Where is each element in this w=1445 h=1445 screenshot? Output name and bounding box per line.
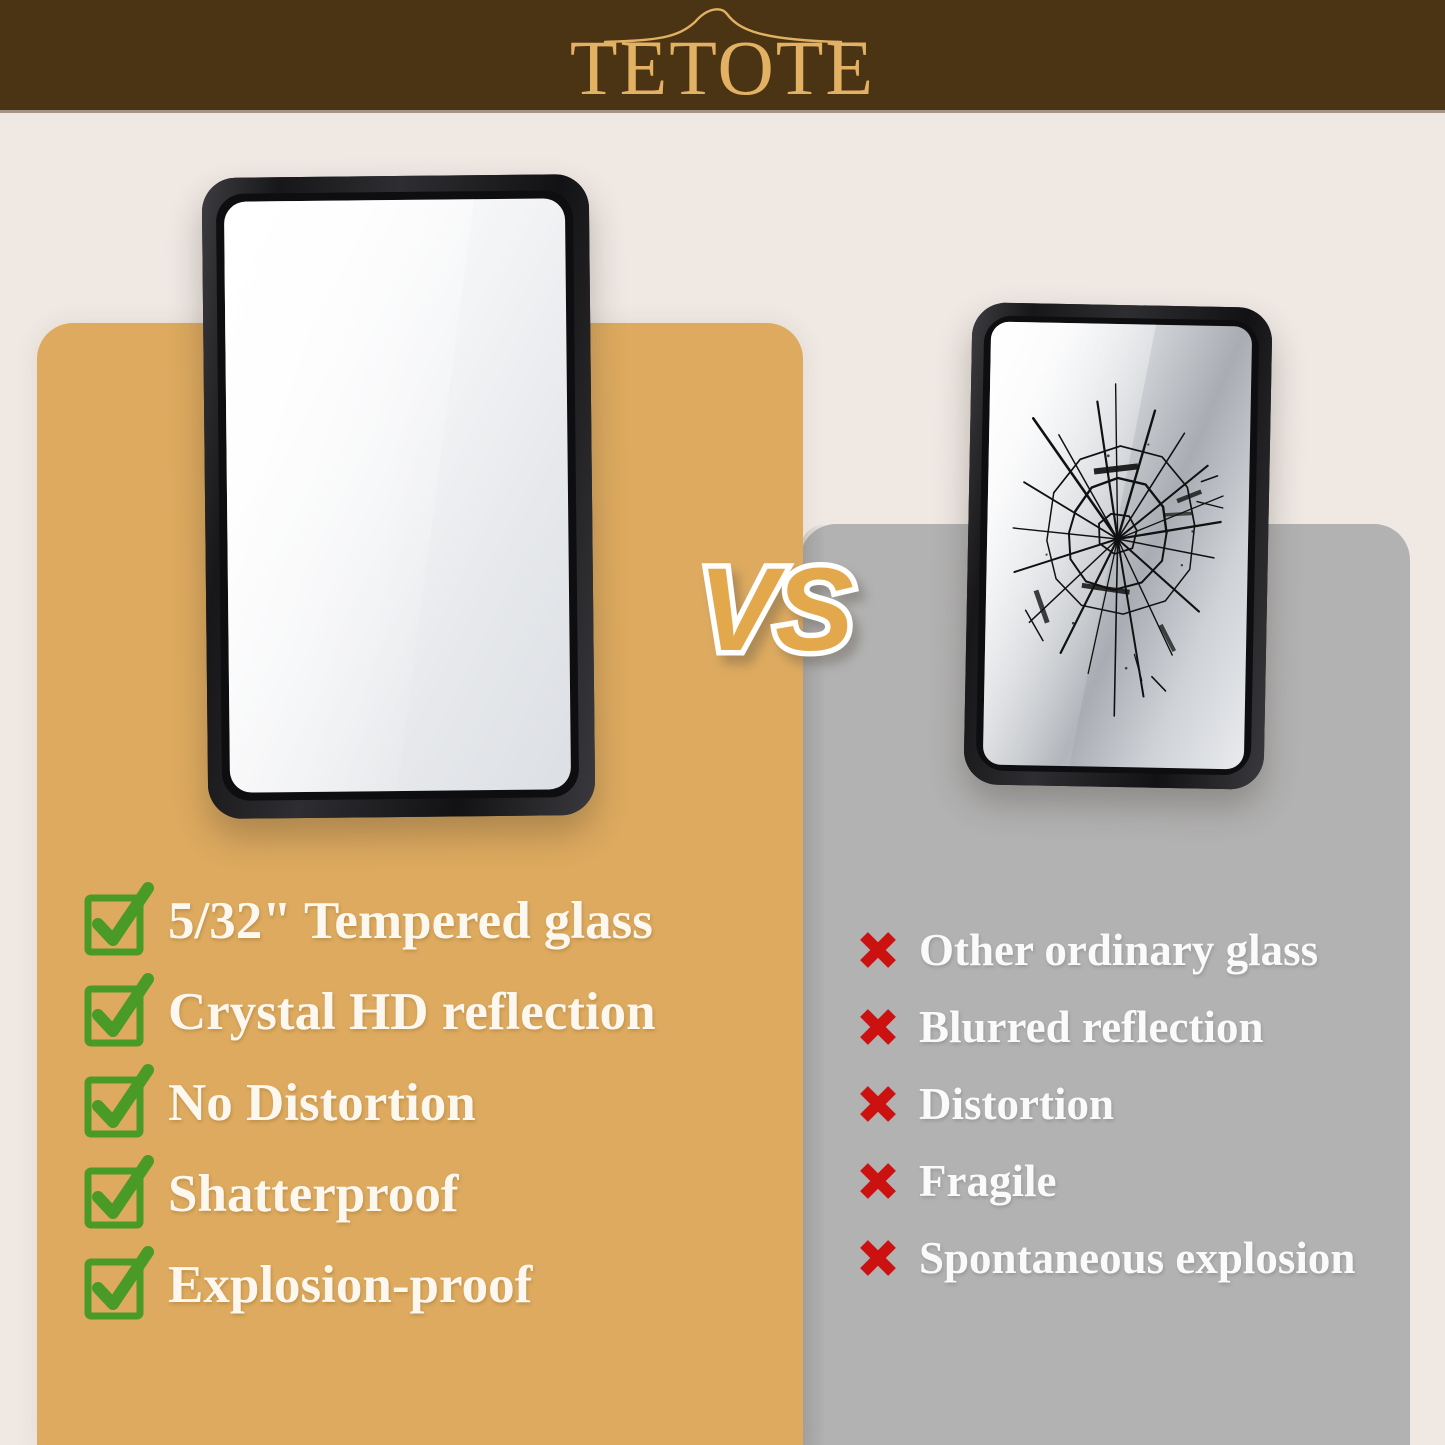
green-checkbox-icon	[86, 1074, 146, 1134]
shattered-glass-crack-icon	[983, 322, 1252, 770]
brand-header-bar: TETOTE	[0, 0, 1445, 110]
green-checkbox-icon	[86, 983, 146, 1043]
intact-mirror-product-image	[202, 174, 596, 819]
list-item: Spontaneous explosion	[855, 1220, 1415, 1297]
list-item: 5/32" Tempered glass	[86, 876, 786, 967]
mirror-glass-shattered	[983, 322, 1252, 770]
green-checkbox-icon	[86, 1256, 146, 1316]
list-item-label: Explosion-proof	[168, 1259, 532, 1312]
green-checkbox-icon	[86, 1165, 146, 1225]
brand-logo: TETOTE	[0, 0, 1445, 110]
red-x-icon	[855, 1161, 897, 1203]
list-item: Other ordinary glass	[855, 912, 1415, 989]
green-checkbox-icon	[86, 892, 146, 952]
list-item: Distortion	[855, 1066, 1415, 1143]
list-item-label: Fragile	[919, 1159, 1056, 1204]
list-item-label: Spontaneous explosion	[919, 1236, 1355, 1281]
list-item: Crystal HD reflection	[86, 967, 786, 1058]
red-x-icon	[855, 930, 897, 972]
list-item: No Distortion	[86, 1058, 786, 1149]
list-item: Explosion-proof	[86, 1240, 786, 1331]
list-item: Shatterproof	[86, 1149, 786, 1240]
list-item-label: Blurred reflection	[919, 1005, 1264, 1050]
list-item-label: Crystal HD reflection	[168, 986, 656, 1039]
list-item-label: Other ordinary glass	[919, 928, 1318, 973]
list-item-label: No Distortion	[168, 1077, 476, 1130]
vs-badge: VS	[650, 540, 900, 680]
shattered-mirror-product-image	[963, 302, 1272, 790]
list-item-label: 5/32" Tempered glass	[168, 895, 653, 948]
list-item-label: Shatterproof	[168, 1168, 459, 1221]
vs-label: VS	[698, 551, 851, 669]
list-item: Fragile	[855, 1143, 1415, 1220]
brand-name: TETOTE	[558, 29, 888, 107]
red-x-icon	[855, 1238, 897, 1280]
mirror-glass-clear	[224, 198, 571, 793]
infographic-canvas: VS 5/32" Tempered glass Crystal HD refle…	[0, 0, 1445, 1445]
tempered-glass-feature-list: 5/32" Tempered glass Crystal HD reflecti…	[86, 876, 786, 1331]
list-item: Blurred reflection	[855, 989, 1415, 1066]
ordinary-glass-drawback-list: Other ordinary glass Blurred reflection …	[855, 912, 1415, 1297]
red-x-icon	[855, 1084, 897, 1126]
red-x-icon	[855, 1007, 897, 1049]
list-item-label: Distortion	[919, 1082, 1114, 1127]
